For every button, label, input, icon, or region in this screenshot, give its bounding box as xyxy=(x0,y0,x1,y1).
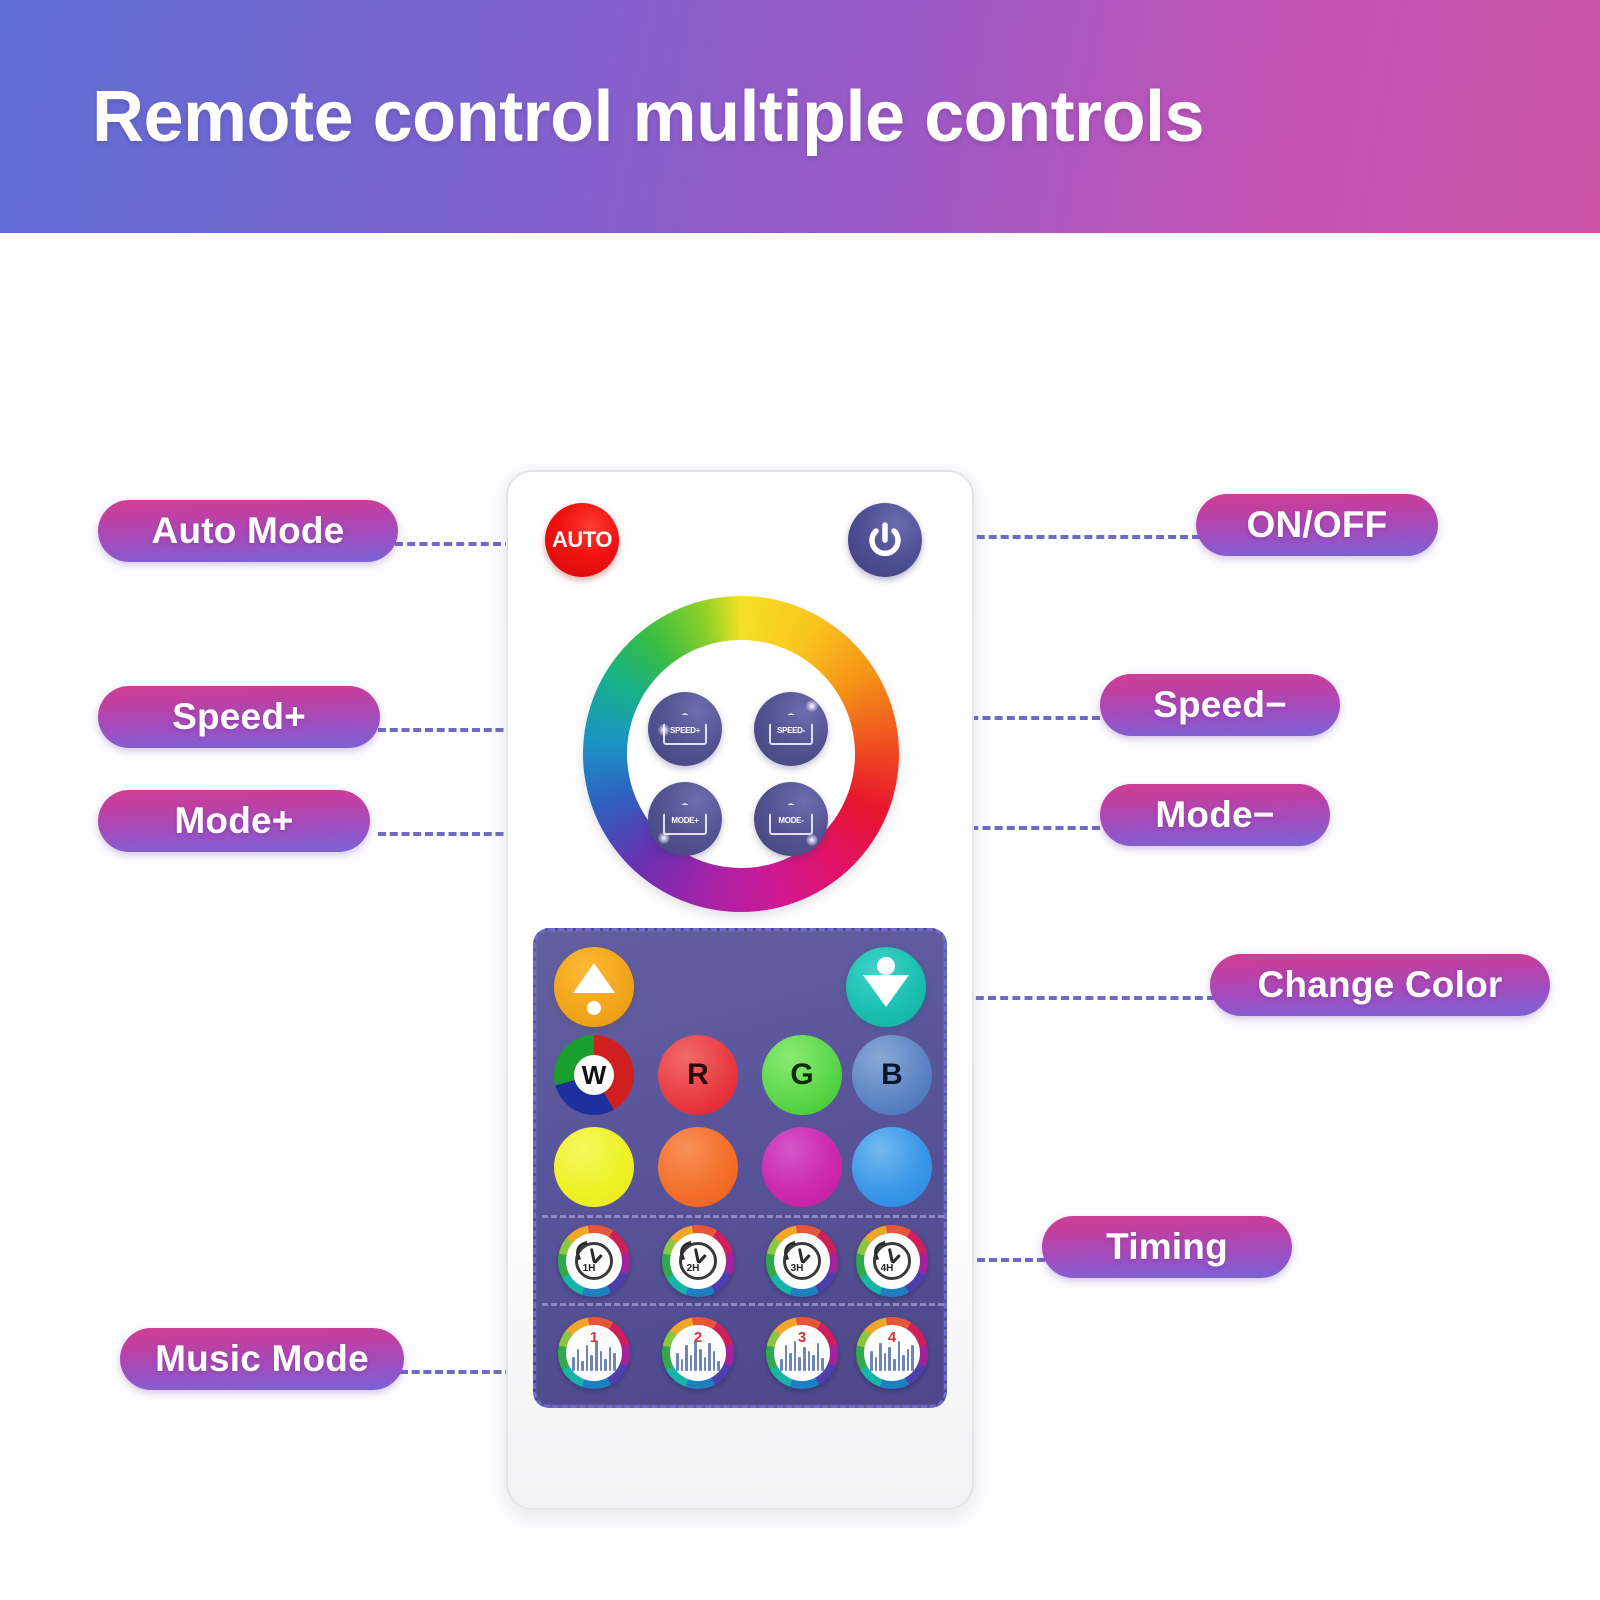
music-2-label: 2 xyxy=(694,1329,702,1346)
music-1-label: 1 xyxy=(590,1329,598,1346)
button-panel: W R G B 1H xyxy=(533,928,947,1408)
callout-mode-plus[interactable]: Mode+ xyxy=(98,790,370,852)
speed-minus-label: SPEED- xyxy=(769,726,813,735)
brightness-up-button[interactable] xyxy=(554,947,634,1027)
speed-plus-button[interactable]: SPEED+ xyxy=(648,692,722,766)
callout-auto-mode[interactable]: Auto Mode xyxy=(98,500,398,562)
speed-minus-highlight xyxy=(806,700,818,712)
speed-minus-button[interactable]: SPEED- xyxy=(754,692,828,766)
power-icon xyxy=(863,518,907,562)
color-magenta-button[interactable] xyxy=(762,1127,842,1207)
mode-minus-label: MODE- xyxy=(769,816,813,825)
blue-button[interactable]: B xyxy=(852,1035,932,1115)
clock-icon: 1H xyxy=(566,1233,622,1289)
timer-2h-label: 2H xyxy=(680,1263,706,1274)
music-1-button[interactable]: 1 xyxy=(558,1317,630,1389)
color-blue-button[interactable] xyxy=(852,1127,932,1207)
timer-4h-label: 4H xyxy=(874,1263,900,1274)
timer-3h-button[interactable]: 3H xyxy=(766,1225,838,1297)
mode-down-icon: MODE- xyxy=(769,803,813,835)
callout-change-color[interactable]: Change Color xyxy=(1210,954,1550,1016)
brightness-down-dot xyxy=(877,957,895,975)
callout-speed-plus-label: Speed+ xyxy=(172,696,306,738)
color-yellow-button[interactable] xyxy=(554,1127,634,1207)
equalizer-icon: 4 xyxy=(864,1325,920,1381)
mode-plus-label: MODE+ xyxy=(663,816,707,825)
speed-plus-label: SPEED+ xyxy=(663,726,707,735)
callout-change-color-label: Change Color xyxy=(1258,964,1503,1006)
equalizer-icon: 2 xyxy=(670,1325,726,1381)
red-button-label: R xyxy=(687,1058,709,1092)
callout-speed-minus-label: Speed− xyxy=(1153,684,1287,726)
callout-speed-minus[interactable]: Speed− xyxy=(1100,674,1340,736)
music-3-label: 3 xyxy=(798,1329,806,1346)
speed-up-icon: SPEED+ xyxy=(663,713,707,745)
callout-auto-mode-label: Auto Mode xyxy=(152,510,345,552)
speed-down-icon: SPEED- xyxy=(769,713,813,745)
red-button[interactable]: R xyxy=(658,1035,738,1115)
white-button[interactable]: W xyxy=(554,1035,634,1115)
callout-mode-minus-label: Mode− xyxy=(1155,794,1274,836)
mode-plus-button[interactable]: MODE+ xyxy=(648,782,722,856)
white-button-label: W xyxy=(574,1055,614,1095)
music-2-button[interactable]: 2 xyxy=(662,1317,734,1389)
green-button[interactable]: G xyxy=(762,1035,842,1115)
brightness-down-button[interactable] xyxy=(846,947,926,1027)
music-4-button[interactable]: 4 xyxy=(856,1317,928,1389)
equalizer-icon: 3 xyxy=(774,1325,830,1381)
callout-on-off-label: ON/OFF xyxy=(1247,504,1388,546)
triangle-up-icon xyxy=(573,963,615,993)
clock-icon: 3H xyxy=(774,1233,830,1289)
panel-divider-bottom xyxy=(542,1303,944,1306)
callout-music-mode-label: Music Mode xyxy=(155,1338,369,1380)
callout-music-mode[interactable]: Music Mode xyxy=(120,1328,404,1390)
page-header: Remote control multiple controls xyxy=(0,0,1600,233)
blue-button-label: B xyxy=(881,1058,903,1092)
callout-timing[interactable]: Timing xyxy=(1042,1216,1292,1278)
timer-3h-label: 3H xyxy=(784,1263,810,1274)
auto-button[interactable]: AUTO xyxy=(545,503,619,577)
timer-1h-button[interactable]: 1H xyxy=(558,1225,630,1297)
timer-1h-label: 1H xyxy=(576,1263,602,1274)
timer-2h-button[interactable]: 2H xyxy=(662,1225,734,1297)
callout-timing-label: Timing xyxy=(1106,1226,1228,1268)
equalizer-icon: 1 xyxy=(566,1325,622,1381)
brightness-up-dot xyxy=(587,1001,601,1015)
color-orange-button[interactable] xyxy=(658,1127,738,1207)
mode-minus-highlight xyxy=(806,834,818,846)
triangle-down-icon xyxy=(863,975,909,1007)
page-root: Remote control multiple controls Auto Mo… xyxy=(0,0,1600,1600)
power-button[interactable] xyxy=(848,503,922,577)
callout-mode-minus[interactable]: Mode− xyxy=(1100,784,1330,846)
page-title: Remote control multiple controls xyxy=(92,76,1204,158)
callout-on-off[interactable]: ON/OFF xyxy=(1196,494,1438,556)
mode-up-icon: MODE+ xyxy=(663,803,707,835)
mode-minus-button[interactable]: MODE- xyxy=(754,782,828,856)
timer-4h-button[interactable]: 4H xyxy=(856,1225,928,1297)
panel-divider-top xyxy=(542,1215,944,1218)
color-wheel[interactable] xyxy=(583,596,899,912)
callout-mode-plus-label: Mode+ xyxy=(174,800,293,842)
callout-speed-plus[interactable]: Speed+ xyxy=(98,686,380,748)
music-4-label: 4 xyxy=(888,1329,896,1346)
green-button-label: G xyxy=(790,1058,813,1092)
music-3-button[interactable]: 3 xyxy=(766,1317,838,1389)
clock-icon: 4H xyxy=(864,1233,920,1289)
clock-icon: 2H xyxy=(670,1233,726,1289)
auto-button-label: AUTO xyxy=(552,527,612,553)
